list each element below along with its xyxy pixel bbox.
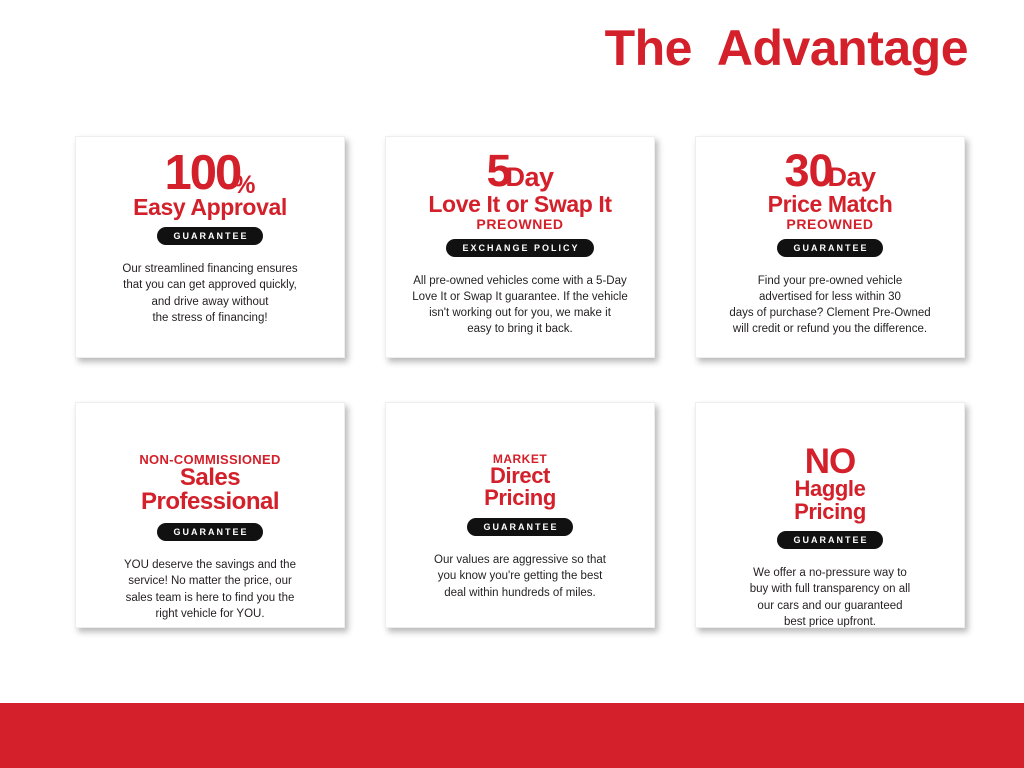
status-badge: GUARANTEE (157, 227, 262, 245)
headline-stack-line-1: Sales (180, 466, 240, 490)
status-badge: GUARANTEE (777, 239, 882, 257)
headline-big: NO (805, 445, 856, 478)
card-headline: 100 % Easy Approval (133, 151, 287, 219)
status-badge: GUARANTEE (777, 531, 882, 549)
headline-line-2: Easy Approval (133, 196, 287, 219)
headline-number: 100 (164, 151, 240, 195)
card-headline: NON-COMMISSIONED Sales Professional (139, 453, 280, 515)
benefit-card-market-direct-pricing[interactable]: MARKET Direct Pricing GUARANTEE Our valu… (385, 402, 655, 628)
status-badge: GUARANTEE (157, 523, 262, 541)
footer-accent-bar (0, 703, 1024, 768)
benefit-card-no-haggle-pricing[interactable]: NO Haggle Pricing GUARANTEE We offer a n… (695, 402, 965, 628)
headline-combo: 30 Day (784, 151, 875, 192)
status-badge: GUARANTEE (467, 518, 572, 536)
card-body-text: YOU deserve the savings and the service!… (124, 557, 296, 622)
headline-line-3: PREOWNED (786, 217, 873, 231)
headline-stack-line-1: Direct (490, 465, 550, 487)
card-body-text: All pre-owned vehicles come with a 5-Day… (412, 273, 627, 338)
headline-suffix: % (233, 174, 255, 197)
benefit-card-easy-approval[interactable]: 100 % Easy Approval GUARANTEE Our stream… (75, 136, 345, 358)
benefit-card-grid: 100 % Easy Approval GUARANTEE Our stream… (75, 136, 965, 628)
card-headline: 30 Day Price Match PREOWNED (768, 151, 893, 231)
card-headline: NO Haggle Pricing (794, 445, 866, 523)
headline-combo: 5 Day (486, 151, 553, 192)
headline-line-2: Love It or Swap It (428, 193, 611, 216)
card-body-text: Find your pre-owned vehicle advertised f… (729, 273, 930, 338)
status-badge: EXCHANGE POLICY (446, 239, 593, 257)
page-title: The Advantage (605, 18, 968, 78)
headline-stack-line-1: Haggle (795, 478, 866, 500)
benefit-card-price-match[interactable]: 30 Day Price Match PREOWNED GUARANTEE Fi… (695, 136, 965, 358)
headline-number: 30 (784, 151, 832, 192)
headline-combo: 100 % (164, 151, 255, 195)
card-body-text: Our values are aggressive so that you kn… (434, 552, 606, 601)
headline-line-2: Price Match (768, 193, 893, 216)
page-header: The Advantage (0, 0, 1024, 100)
headline-suffix: Day (506, 165, 554, 189)
headline-stack-line-2: Pricing (794, 501, 866, 523)
headline-suffix: Day (828, 165, 876, 189)
card-body-text: Our streamlined financing ensures that y… (122, 261, 297, 326)
card-headline: 5 Day Love It or Swap It PREOWNED (428, 151, 611, 231)
headline-stack-line-2: Pricing (484, 487, 556, 509)
benefit-card-love-it-or-swap-it[interactable]: 5 Day Love It or Swap It PREOWNED EXCHAN… (385, 136, 655, 358)
headline-line-3: PREOWNED (476, 217, 563, 231)
benefit-card-non-commissioned-sales[interactable]: NON-COMMISSIONED Sales Professional GUAR… (75, 402, 345, 628)
card-headline: MARKET Direct Pricing (484, 453, 556, 510)
headline-stack-line-2: Professional (141, 490, 279, 514)
card-body-text: We offer a no-pressure way to buy with f… (750, 565, 910, 628)
